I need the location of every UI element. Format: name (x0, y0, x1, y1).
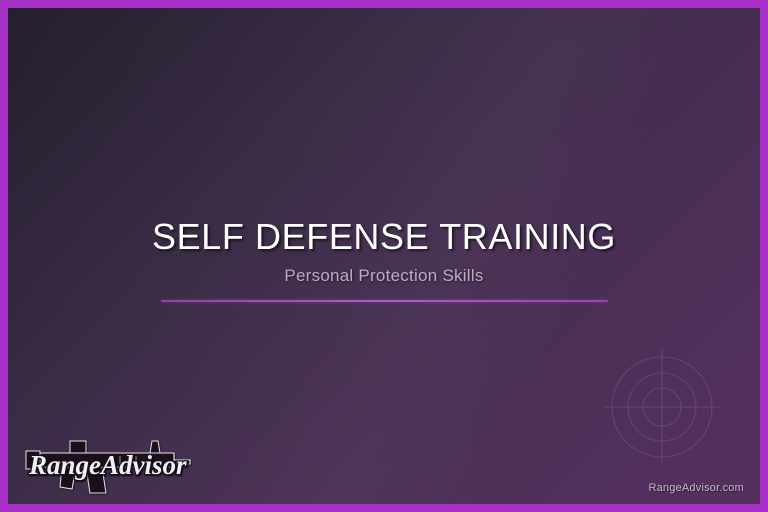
slide-frame: SELF DEFENSE TRAINING Personal Protectio… (0, 0, 768, 512)
brand-logo: RangeAdvisor (24, 427, 200, 497)
target-crosshair-icon (595, 340, 729, 474)
page-title: SELF DEFENSE TRAINING (8, 216, 760, 258)
slide-canvas: SELF DEFENSE TRAINING Personal Protectio… (8, 8, 760, 504)
brand-wordmark-text: RangeAdvisor (28, 450, 187, 480)
site-watermark: RangeAdvisor.com (648, 482, 744, 494)
page-subtitle: Personal Protection Skills (8, 265, 760, 286)
brand-wordmark: RangeAdvisor (28, 450, 187, 480)
title-block: SELF DEFENSE TRAINING Personal Protectio… (8, 216, 760, 302)
title-divider (161, 300, 608, 302)
